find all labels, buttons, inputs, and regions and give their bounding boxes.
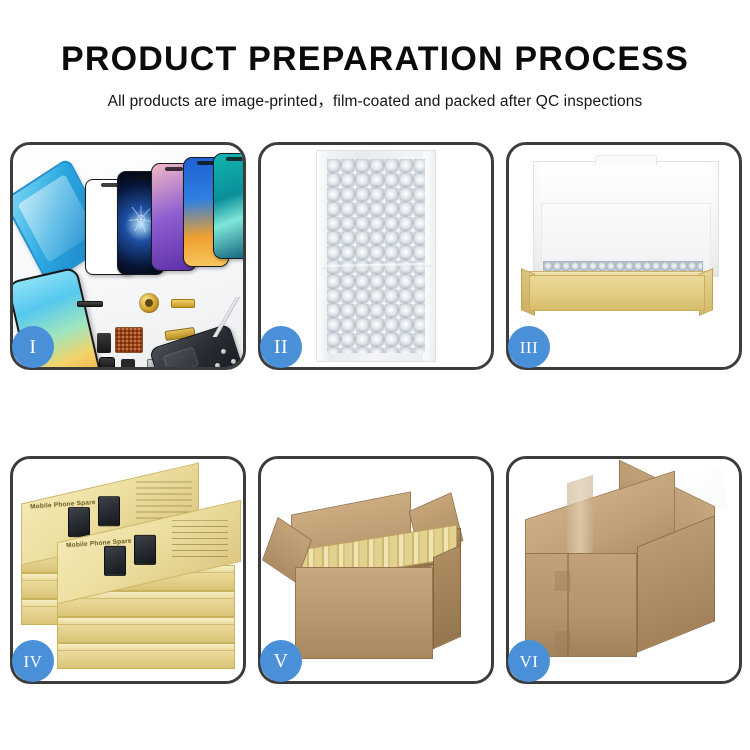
step-badge-2: II (260, 326, 302, 368)
steps-grid: I II (10, 142, 742, 687)
header: PRODUCT PREPARATION PROCESS All products… (0, 0, 750, 110)
stacked-box (57, 643, 235, 669)
phone-screen-fan (85, 153, 243, 281)
carton-side-right (433, 545, 461, 649)
screw-icon (231, 359, 236, 364)
screw-icon (215, 363, 220, 367)
step-panel-4[interactable]: Mobile Phone Spare Parts Mobile Phone Sp… (10, 456, 246, 684)
step-panel-2[interactable]: II (258, 142, 494, 370)
page-subtitle: All products are image-printed，film-coat… (0, 76, 750, 110)
step-badge-3: III (508, 326, 550, 368)
notch-icon (226, 157, 243, 161)
carton-front-panel (295, 567, 433, 659)
product-preparation-infographic: PRODUCT PREPARATION PROCESS All products… (0, 0, 750, 750)
notch-icon (132, 175, 150, 179)
step-badge-4: IV (12, 640, 54, 682)
box-artwork-phone (98, 496, 120, 526)
screw-icon (221, 349, 226, 354)
stacked-box (57, 617, 235, 643)
box-artwork-phone (134, 535, 156, 565)
box-front-panel (529, 275, 705, 311)
notch-icon (165, 167, 183, 171)
flex-cable-icon (171, 299, 195, 308)
camera-module-icon (99, 357, 115, 367)
spare-parts-group (91, 293, 243, 367)
phone-screen-teal (213, 153, 243, 259)
connector-icon (97, 333, 111, 353)
box-stack: Mobile Phone Spare Parts Mobile Phone Sp… (15, 469, 241, 669)
step-badge-1: I (12, 326, 54, 368)
box-edge (58, 618, 234, 625)
step-badge-5: V (260, 640, 302, 682)
tweezers-tool-icon (209, 297, 243, 337)
step-panel-5[interactable]: V (258, 456, 494, 684)
lid-tab (595, 155, 657, 165)
speaker-coil-icon (139, 293, 159, 313)
box-spec-lines (172, 520, 228, 560)
page-title: PRODUCT PREPARATION PROCESS (0, 0, 750, 76)
step-badge-6: VI (508, 640, 550, 682)
copper-mesh-icon (115, 327, 143, 353)
bubble-pattern (327, 159, 425, 353)
carton-flap-tab (555, 571, 571, 591)
box-artwork-phone (68, 507, 90, 537)
box-artwork-phone (104, 546, 126, 576)
earpiece-bar-icon (77, 301, 103, 307)
button-part-icon (121, 359, 135, 367)
carton-front-panel (525, 553, 637, 657)
step-panel-1[interactable]: I (10, 142, 246, 370)
box-edge (58, 644, 234, 651)
step-panel-3[interactable]: III (506, 142, 742, 370)
carton-flap-tab (555, 631, 571, 651)
step-panel-6[interactable]: VI (506, 456, 742, 684)
bubble-wrap-pouch (316, 150, 436, 362)
